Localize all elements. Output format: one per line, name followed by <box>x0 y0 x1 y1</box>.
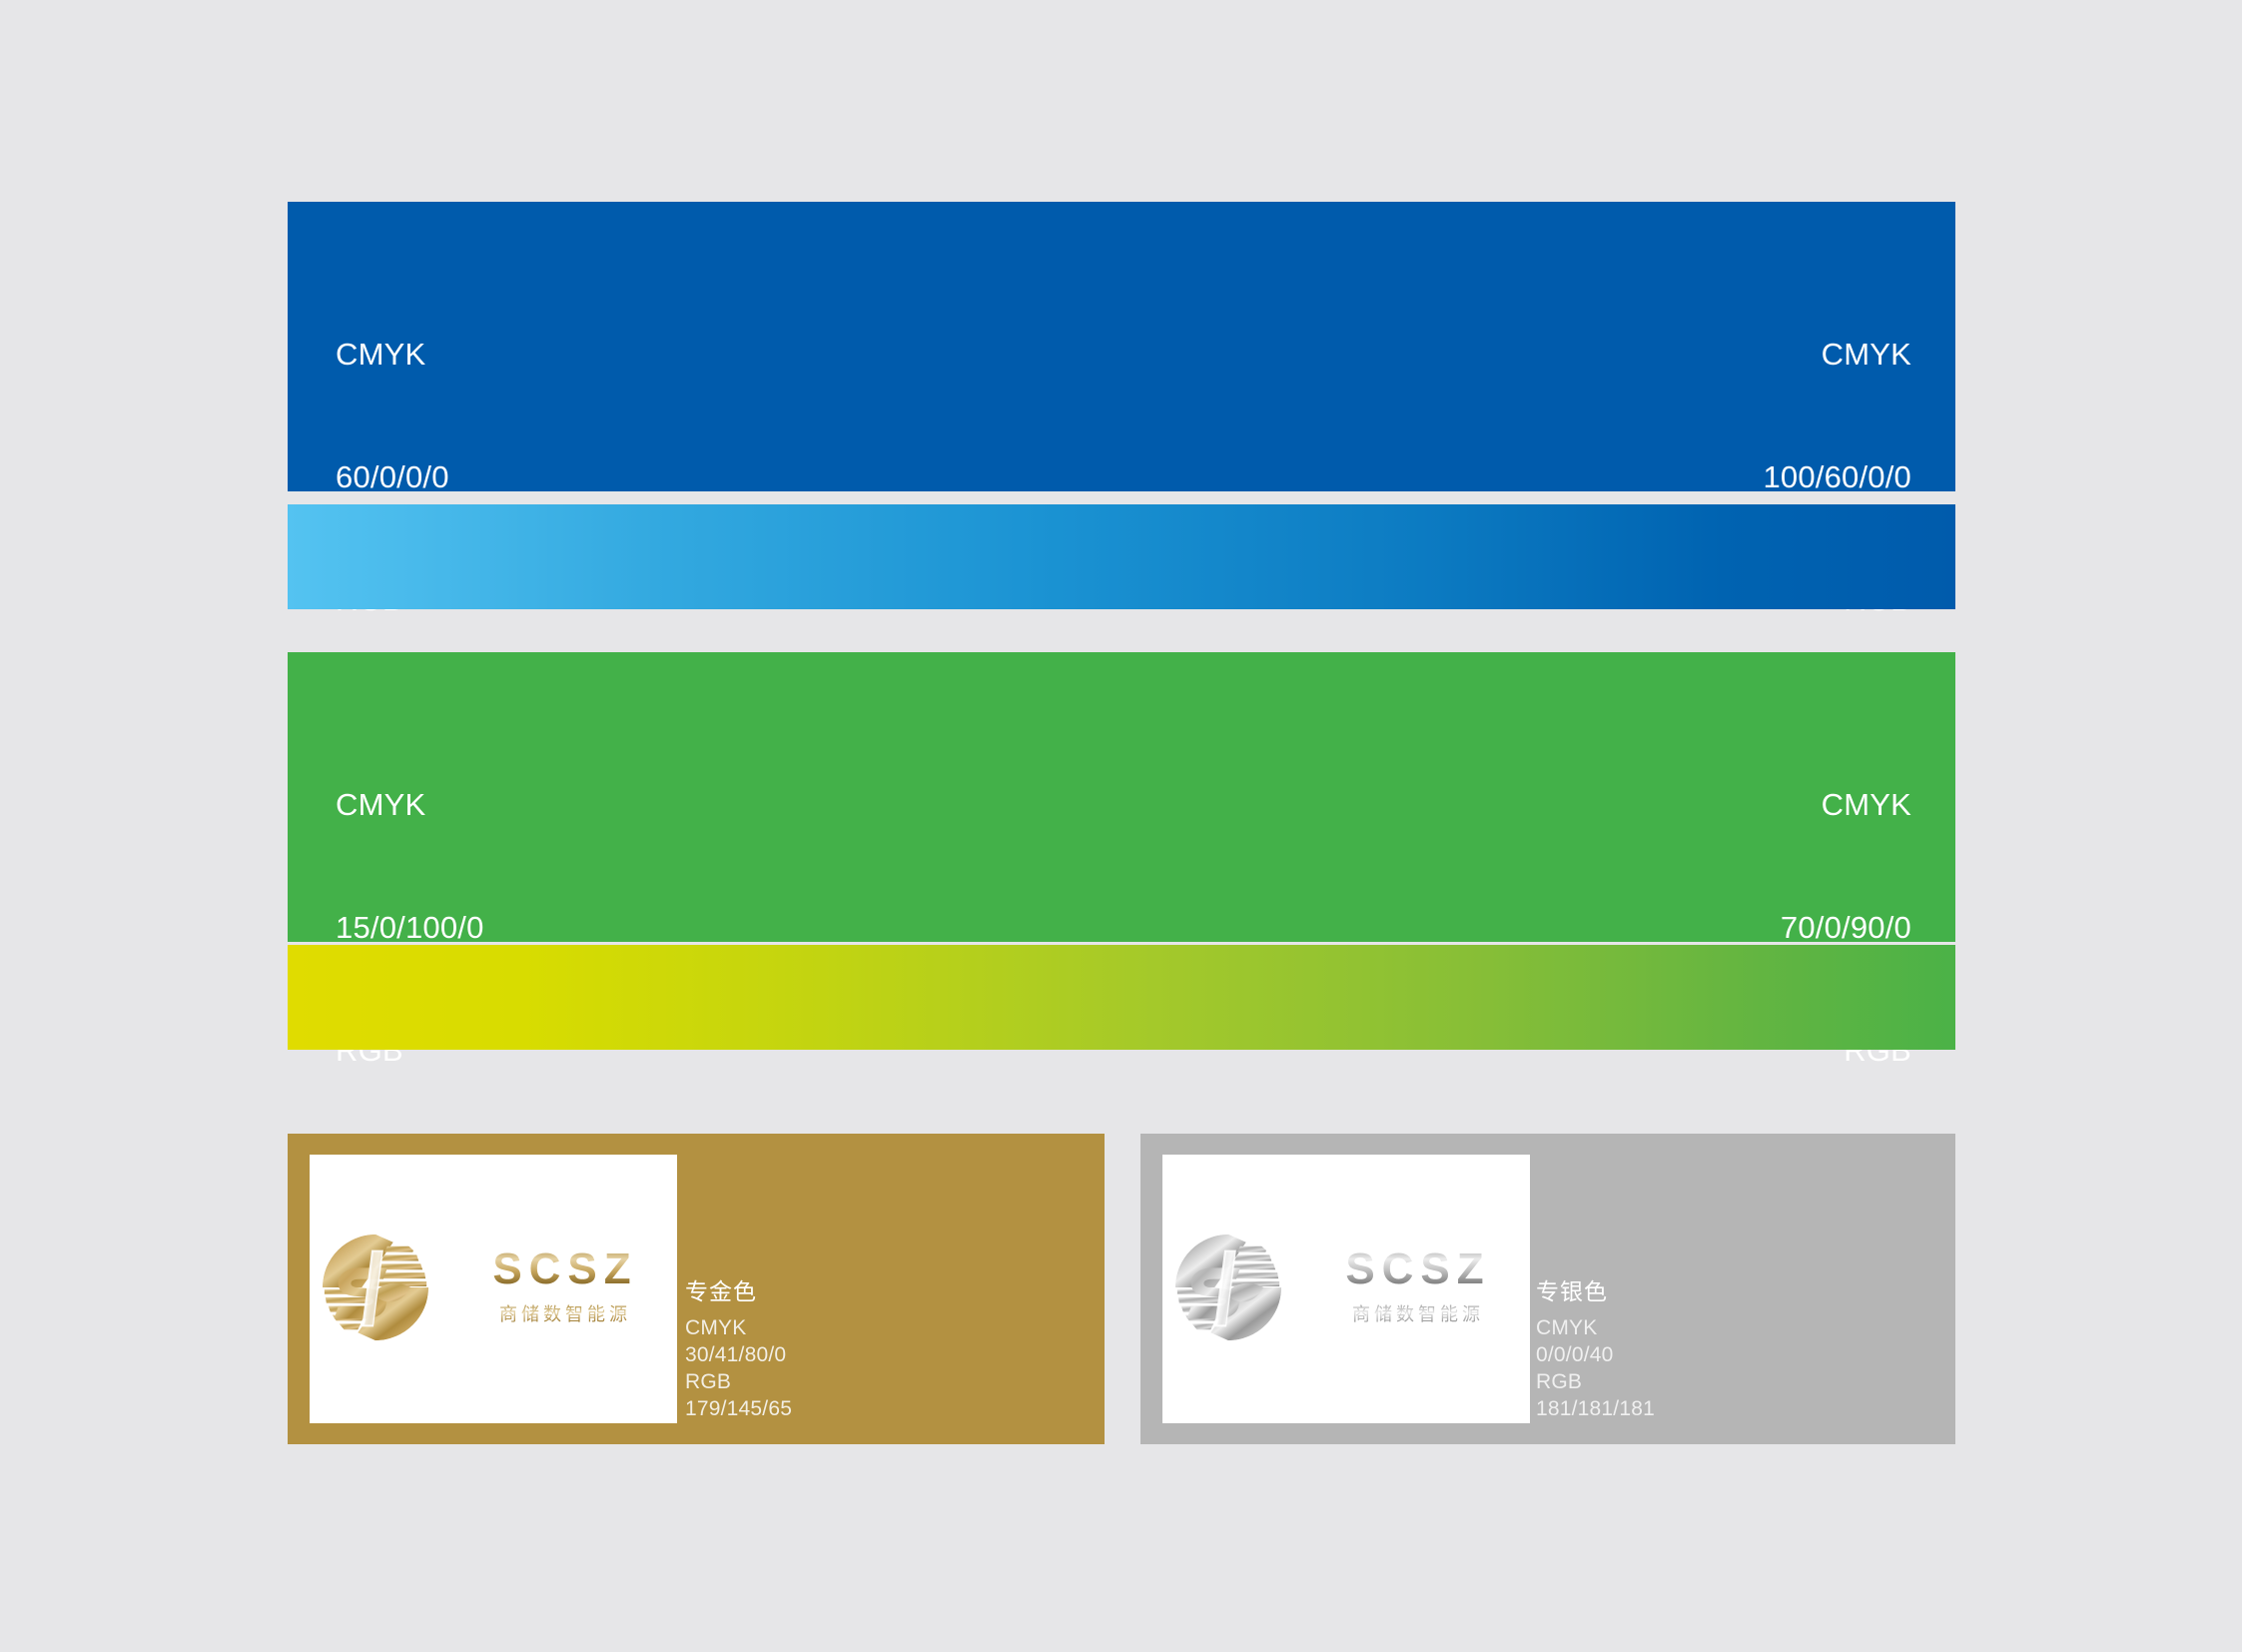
blue-primary-swatch: CMYK 60/0/0/0 RGB 84/195/241 CMYK 100/60… <box>288 202 1955 491</box>
scsz-subtitle-icon: 商储数智能源 <box>1318 1301 1518 1327</box>
silver-spot-color-panel: SCSZ 商储数智能源 <box>1140 1134 1955 1444</box>
blue-gradient-bar <box>288 504 1955 609</box>
gold-spot-color-panel: SCSZ 商储数智能源 <box>288 1134 1105 1444</box>
blue-right-cmyk-value: 100/60/0/0 <box>1763 456 1911 497</box>
logo-lockup-silver: SCSZ 商储数智能源 <box>1169 1229 1523 1346</box>
gold-rgb-label: RGB <box>685 1368 792 1395</box>
green-primary-swatch: CMYK 15/0/100/0 RGB 230/228/0 CMYK 70/0/… <box>288 652 1955 942</box>
logo-wordmark-group: SCSZ 商储数智能源 <box>1313 1246 1523 1327</box>
silver-spec-block: 专银色 CMYK 0/0/0/40 RGB 181/181/181 <box>1536 1276 1655 1422</box>
gold-spec-block: 专金色 CMYK 30/41/80/0 RGB 179/145/65 <box>685 1276 792 1422</box>
svg-text:商储数智能源: 商储数智能源 <box>499 1304 631 1324</box>
green-left-cmyk-value: 15/0/100/0 <box>336 907 484 948</box>
scsz-subtitle-icon: 商储数智能源 <box>465 1301 665 1327</box>
scsz-emblem-icon <box>317 1229 434 1346</box>
gold-cmyk-label: CMYK <box>685 1314 792 1341</box>
scsz-wordmark-icon: SCSZ <box>1313 1246 1523 1294</box>
green-gradient-bar <box>288 945 1955 1050</box>
svg-text:SCSZ: SCSZ <box>492 1246 637 1293</box>
silver-color-values: CMYK 0/0/0/40 RGB 181/181/181 <box>1536 1314 1655 1422</box>
silver-cmyk-value: 0/0/0/40 <box>1536 1341 1655 1368</box>
blue-right-cmyk-label: CMYK <box>1763 334 1911 375</box>
silver-rgb-label: RGB <box>1536 1368 1655 1395</box>
silver-rgb-value: 181/181/181 <box>1536 1395 1655 1422</box>
green-right-cmyk-label: CMYK <box>1772 784 1911 825</box>
scsz-wordmark-icon: SCSZ <box>460 1246 670 1294</box>
silver-color-title: 专银色 <box>1536 1276 1655 1306</box>
silver-cmyk-label: CMYK <box>1536 1314 1655 1341</box>
green-left-cmyk-label: CMYK <box>336 784 484 825</box>
scsz-emblem-icon <box>1169 1229 1287 1346</box>
gold-color-values: CMYK 30/41/80/0 RGB 179/145/65 <box>685 1314 792 1422</box>
logo-wordmark-group: SCSZ 商储数智能源 <box>460 1246 670 1327</box>
blue-left-cmyk-value: 60/0/0/0 <box>336 456 492 497</box>
green-right-cmyk-value: 70/0/90/0 <box>1772 907 1911 948</box>
blue-left-cmyk-label: CMYK <box>336 334 492 375</box>
logo-lockup-gold: SCSZ 商储数智能源 <box>317 1229 670 1346</box>
gold-color-title: 专金色 <box>685 1276 792 1306</box>
gold-logo-card: SCSZ 商储数智能源 <box>310 1155 677 1423</box>
svg-text:商储数智能源: 商储数智能源 <box>1352 1304 1484 1324</box>
gold-rgb-value: 179/145/65 <box>685 1395 792 1422</box>
gold-cmyk-value: 30/41/80/0 <box>685 1341 792 1368</box>
svg-text:SCSZ: SCSZ <box>1345 1246 1490 1293</box>
silver-logo-card: SCSZ 商储数智能源 <box>1162 1155 1530 1423</box>
color-specification-board: CMYK 60/0/0/0 RGB 84/195/241 CMYK 100/60… <box>0 0 2242 1652</box>
